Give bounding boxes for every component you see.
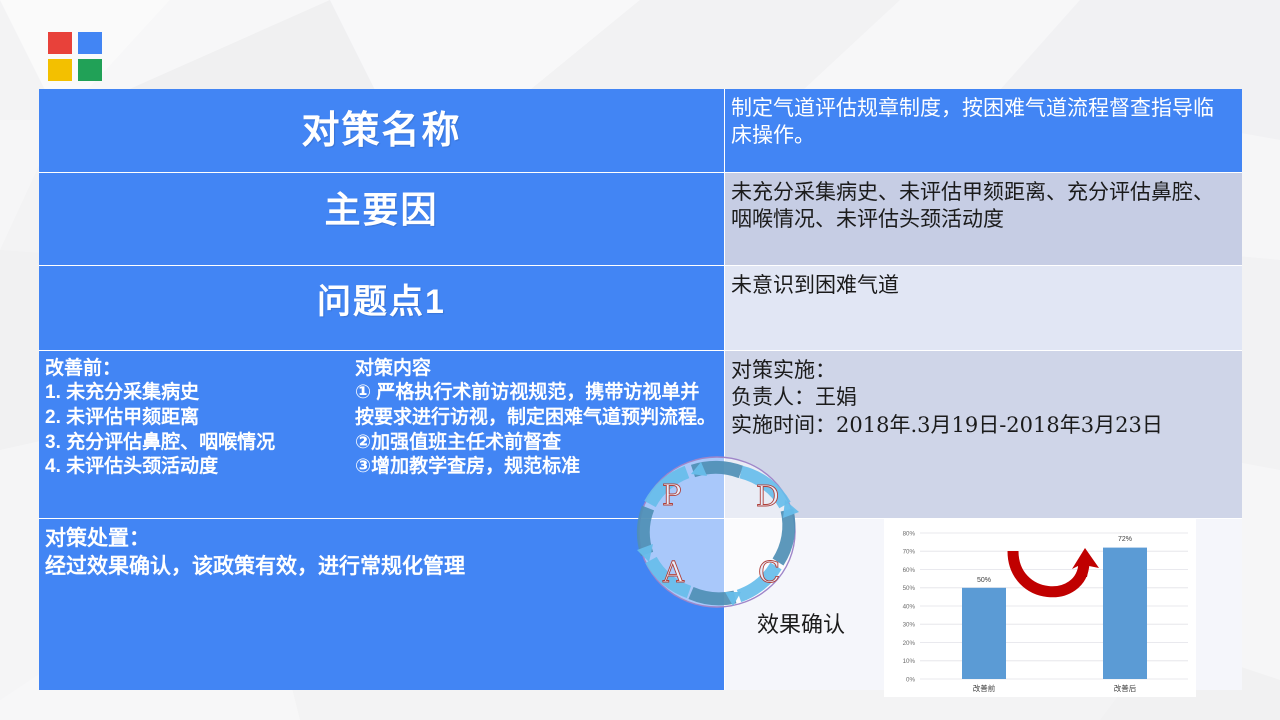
y-tick-30: 30% — [903, 622, 916, 629]
y-tick-0: 0% — [906, 676, 915, 683]
effect-bar-chart: 80% 70% 60% 50% 40% 30% 20% 10% 0% 50% 7… — [884, 519, 1196, 697]
measure-content-heading: 对策内容 — [355, 357, 718, 381]
measure-content-item-1: ① 严格执行术前访视规范，携带访视单并按要求进行访视，制定困难气道预判流程。 — [355, 381, 718, 430]
table-row: 问题点1 未意识到困难气道 — [39, 265, 1242, 350]
before-improvement-item-4: 4. 未评估头颈活动度 — [45, 455, 345, 480]
before-improvement-item-3: 3. 充分评估鼻腔、咽喉情况 — [45, 431, 345, 456]
y-tick-80: 80% — [903, 530, 916, 537]
bar-label-after: 72% — [1118, 536, 1132, 543]
row-cell-before-and-measures: 改善前： 1. 未充分采集病史 2. 未评估甲颏距离 3. 充分评估鼻腔、咽喉情… — [39, 351, 725, 518]
table-row: 改善前： 1. 未充分采集病史 2. 未评估甲颏距离 3. 充分评估鼻腔、咽喉情… — [39, 350, 1242, 518]
logo-square-blue — [78, 32, 102, 54]
row-label-cell-main-cause: 主要因 — [39, 173, 725, 265]
bar-after — [1103, 548, 1147, 679]
implementation-period: 实施时间：2018年.3月19日-2018年3月23日 — [731, 412, 1234, 439]
table-row: 主要因 未充分采集病史、未评估甲颏距离、充分评估鼻腔、咽喉情况、未评估头颈活动度 — [39, 172, 1242, 265]
effect-confirmation-label: 效果确认 — [757, 607, 845, 639]
row-value-cell-main-cause: 未充分采集病史、未评估甲颏距离、充分评估鼻腔、咽喉情况、未评估头颈活动度 — [725, 173, 1242, 265]
label-problem-point: 问题点1 — [39, 266, 724, 350]
x-tick-before: 改善前 — [973, 683, 996, 693]
row-cell-implementation: 对策实施： 负责人：王娟 实施时间：2018年.3月19日-2018年3月23日 — [725, 351, 1242, 518]
row-label-cell-measure-name: 对策名称 — [39, 89, 725, 172]
row-label-cell-problem-point: 问题点1 — [39, 266, 725, 350]
value-main-cause: 未充分采集病史、未评估甲颏距离、充分评估鼻腔、咽喉情况、未评估头颈活动度 — [725, 173, 1242, 234]
label-main-cause: 主要因 — [39, 173, 724, 265]
before-improvement-block: 改善前： 1. 未充分采集病史 2. 未评估甲颏距离 3. 充分评估鼻腔、咽喉情… — [39, 351, 349, 518]
bar-chart-svg: 80% 70% 60% 50% 40% 30% 20% 10% 0% 50% 7… — [884, 519, 1196, 697]
implementation-block: 对策实施： 负责人：王娟 实施时间：2018年.3月19日-2018年3月23日 — [725, 351, 1242, 439]
before-improvement-heading: 改善前： — [45, 357, 345, 381]
disposal-item-1: 经过效果确认，该政策有效，进行常规化管理 — [45, 553, 716, 581]
measure-content-block: 对策内容 ① 严格执行术前访视规范，携带访视单并按要求进行访视，制定困难气道预判… — [349, 351, 724, 518]
x-tick-after: 改善后 — [1114, 683, 1137, 693]
y-tick-60: 60% — [903, 567, 916, 574]
logo-square-red — [48, 32, 72, 54]
implementation-heading: 对策实施： — [731, 357, 1234, 384]
value-problem-point: 未意识到困难气道 — [725, 266, 1242, 299]
value-measure-name: 制定气道评估规章制度，按困难气道流程督查指导临床操作。 — [725, 89, 1242, 150]
brand-logo — [48, 32, 108, 80]
row-value-cell-problem-point: 未意识到困难气道 — [725, 266, 1242, 350]
bar-before — [962, 588, 1006, 679]
bar-label-before: 50% — [977, 577, 991, 584]
y-tick-50: 50% — [903, 585, 916, 592]
y-tick-10: 10% — [903, 658, 916, 665]
measure-content-item-3: ③增加教学查房，规范标准 — [355, 455, 718, 480]
disposal-heading: 对策处置： — [45, 525, 716, 553]
implementation-owner: 负责人：王娟 — [731, 384, 1234, 411]
row-value-cell-measure-name: 制定气道评估规章制度，按困难气道流程督查指导临床操作。 — [725, 89, 1242, 172]
row-cell-disposal: 对策处置： 经过效果确认，该政策有效，进行常规化管理 — [39, 519, 725, 690]
y-tick-70: 70% — [903, 549, 916, 556]
before-improvement-item-1: 1. 未充分采集病史 — [45, 381, 345, 406]
y-tick-20: 20% — [903, 640, 916, 647]
measure-content-item-2: ②加强值班主任术前督查 — [355, 431, 718, 456]
y-tick-40: 40% — [903, 603, 916, 610]
chart-y-tick-labels: 80% 70% 60% 50% 40% 30% 20% 10% 0% — [903, 530, 916, 683]
before-improvement-item-2: 2. 未评估甲颏距离 — [45, 406, 345, 431]
logo-square-green — [78, 59, 102, 81]
table-row: 对策名称 制定气道评估规章制度，按困难气道流程督查指导临床操作。 — [39, 89, 1242, 172]
label-measure-name: 对策名称 — [39, 89, 724, 172]
logo-square-yellow — [48, 59, 72, 81]
